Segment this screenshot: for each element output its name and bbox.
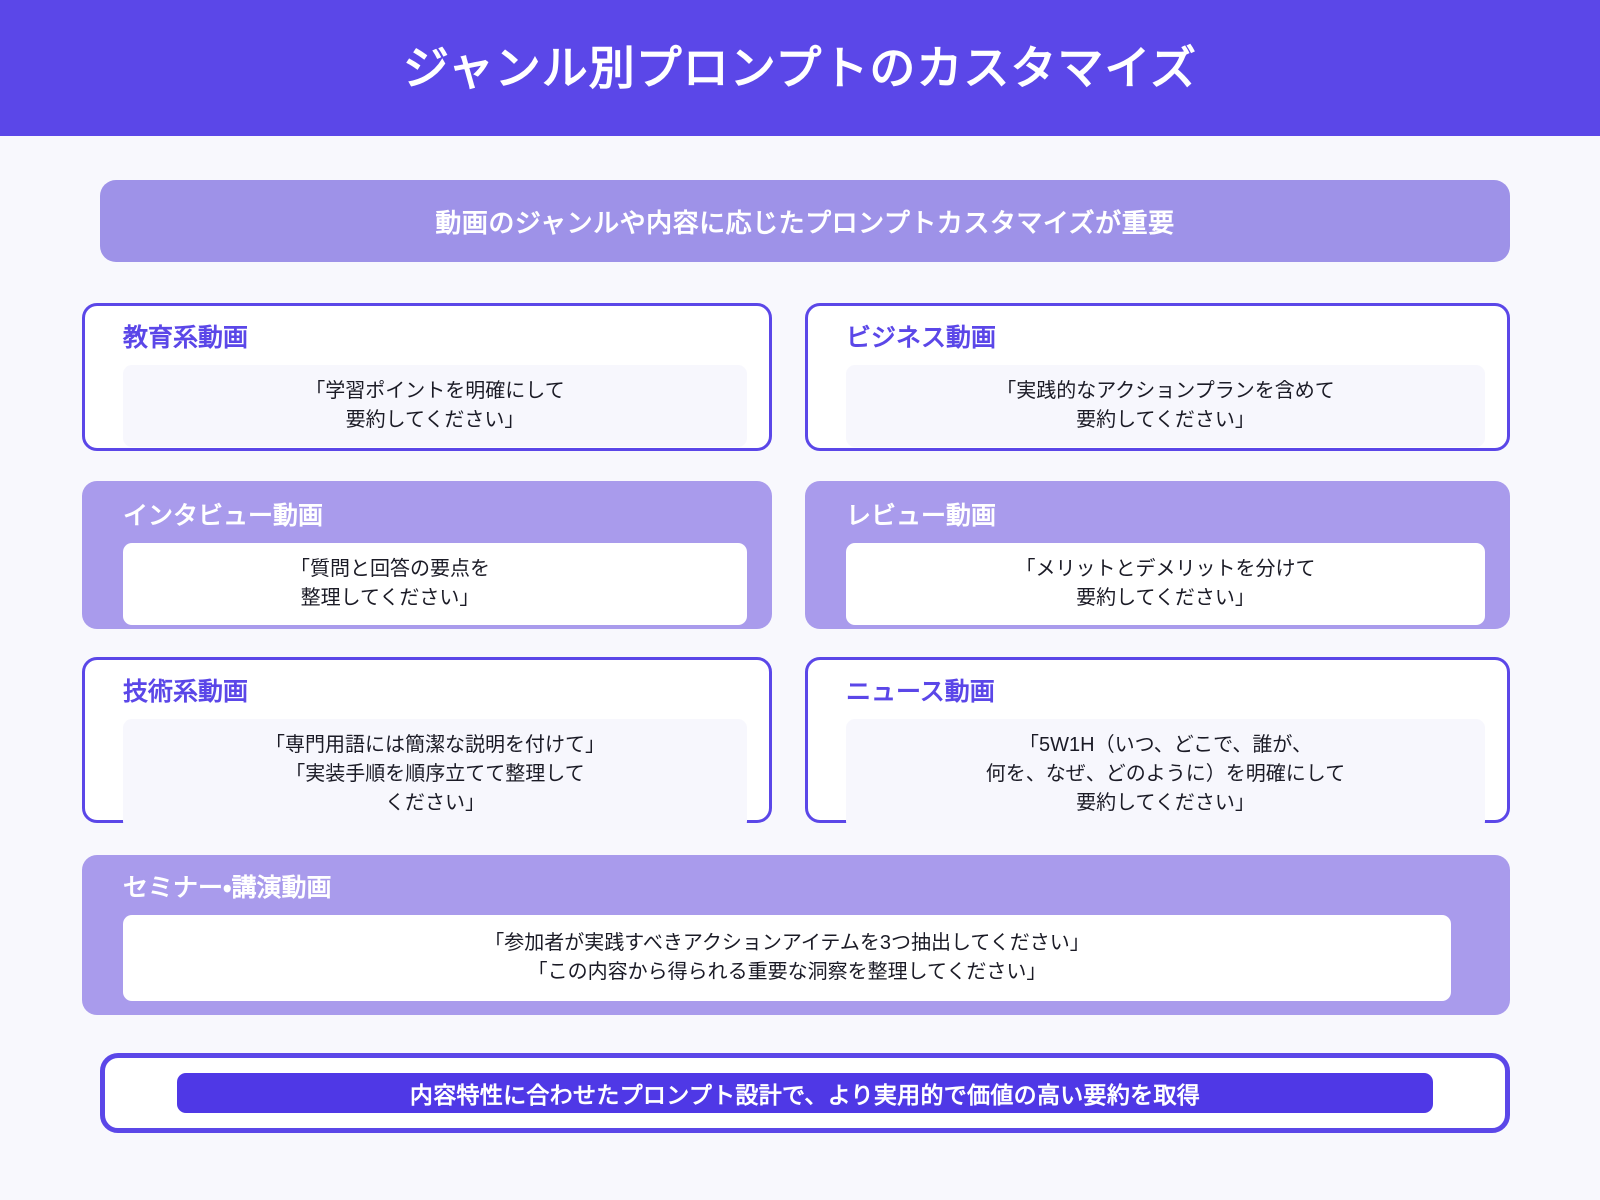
prompt-box: 「メリットとデメリットを分けて 要約してください」 <box>846 543 1485 625</box>
infographic-page: ジャンル別プロンプトのカスタマイズ 動画のジャンルや内容に応じたプロンプトカスタ… <box>0 0 1600 1200</box>
genre-card-news[interactable]: ニュース動画 「5W1H（いつ、どこで、誰が、 何を、なぜ、どのように）を明確に… <box>805 657 1510 823</box>
card-title: レビュー動画 <box>846 502 1485 531</box>
prompt-line: 要約してください」 <box>860 584 1471 613</box>
genre-card-business[interactable]: ビジネス動画 「実践的なアクションプランを含めて 要約してください」 <box>805 303 1510 451</box>
genre-card-interview[interactable]: インタビュー動画 「質問と回答の要点を 整理してください」 <box>82 481 772 629</box>
prompt-line: 「実装手順を順序立てて整理して <box>137 760 733 789</box>
prompt-line: ください」 <box>137 789 733 818</box>
genre-card-seminar[interactable]: セミナー・講演動画 「参加者が実践すべきアクションアイテムを3つ抽出してください… <box>82 855 1510 1015</box>
prompt-box: 「参加者が実践すべきアクションアイテムを3つ抽出してください」 「この内容から得… <box>123 915 1451 1001</box>
genre-cards-area: 教育系動画 「学習ポイントを明確にして 要約してください」 ビジネス動画 「実践… <box>0 0 1600 1200</box>
prompt-line: 要約してください」 <box>137 406 733 435</box>
card-title: ニュース動画 <box>846 678 1485 707</box>
card-title: ビジネス動画 <box>846 324 1485 353</box>
card-title: 教育系動画 <box>123 324 747 353</box>
prompt-line: 要約してください」 <box>860 406 1471 435</box>
card-title: 技術系動画 <box>123 678 747 707</box>
prompt-line: 「専門用語には簡潔な説明を付けて」 <box>137 731 733 760</box>
prompt-line: 「学習ポイントを明確にして <box>137 377 733 406</box>
prompt-line: 何を、なぜ、どのように）を明確にして <box>860 760 1471 789</box>
genre-card-technical[interactable]: 技術系動画 「専門用語には簡潔な説明を付けて」 「実装手順を順序立てて整理して … <box>82 657 772 823</box>
prompt-box: 「実践的なアクションプランを含めて 要約してください」 <box>846 365 1485 447</box>
prompt-line: 「メリットとデメリットを分けて <box>860 555 1471 584</box>
prompt-line: 「質問と回答の要点を <box>123 555 657 584</box>
prompt-line: 整理してください」 <box>123 584 657 613</box>
genre-card-review[interactable]: レビュー動画 「メリットとデメリットを分けて 要約してください」 <box>805 481 1510 629</box>
card-title: インタビュー動画 <box>123 502 747 531</box>
prompt-box: 「専門用語には簡潔な説明を付けて」 「実装手順を順序立てて整理して ください」 <box>123 719 747 830</box>
prompt-line: 「この内容から得られる重要な洞察を整理してください」 <box>137 958 1437 987</box>
prompt-line: 「5W1H（いつ、どこで、誰が、 <box>860 731 1471 760</box>
genre-card-education[interactable]: 教育系動画 「学習ポイントを明確にして 要約してください」 <box>82 303 772 451</box>
card-title: セミナー・講演動画 <box>123 874 1451 903</box>
prompt-line: 「実践的なアクションプランを含めて <box>860 377 1471 406</box>
footer-text: 内容特性に合わせたプロンプト設計で、より実用的で価値の高い要約を取得 <box>410 1076 1200 1110</box>
prompt-box: 「質問と回答の要点を 整理してください」 <box>123 543 747 625</box>
prompt-line: 要約してください」 <box>860 789 1471 818</box>
footer-banner: 内容特性に合わせたプロンプト設計で、より実用的で価値の高い要約を取得 <box>100 1053 1510 1133</box>
prompt-box: 「5W1H（いつ、どこで、誰が、 何を、なぜ、どのように）を明確にして 要約して… <box>846 719 1485 830</box>
footer-pill: 内容特性に合わせたプロンプト設計で、より実用的で価値の高い要約を取得 <box>177 1073 1433 1113</box>
prompt-box: 「学習ポイントを明確にして 要約してください」 <box>123 365 747 447</box>
prompt-line: 「参加者が実践すべきアクションアイテムを3つ抽出してください」 <box>137 929 1437 958</box>
